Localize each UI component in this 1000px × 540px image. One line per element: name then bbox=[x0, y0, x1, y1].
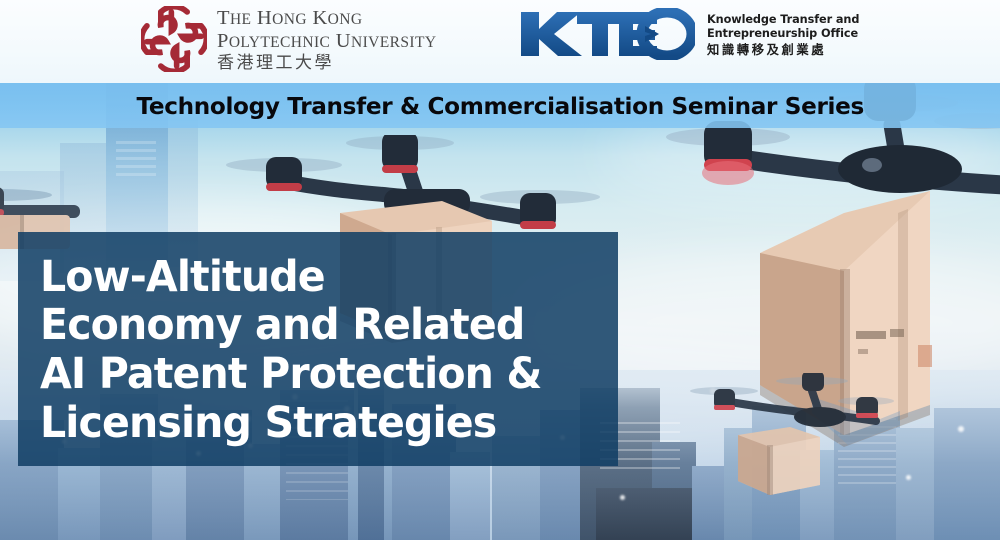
kteo-logo: Knowledge Transfer and Entrepreneurship … bbox=[519, 8, 859, 60]
poster-title-overlay: Low-Altitude Economy and Related AI Pate… bbox=[18, 232, 618, 466]
kteo-wordmark-icon bbox=[519, 8, 695, 60]
kteo-name-chinese: 知識轉移及創業處 bbox=[707, 43, 859, 58]
delivery-drone-small-center bbox=[680, 373, 900, 513]
seminar-poster: Low-Altitude Economy and Related AI Pate… bbox=[0, 0, 1000, 540]
polyu-logo: THE HONG KONG POLYTECHNIC UNIVERSITY 香港理… bbox=[141, 6, 436, 72]
kteo-name-line-1: Knowledge Transfer and bbox=[707, 13, 859, 26]
poster-header: THE HONG KONG POLYTECHNIC UNIVERSITY 香港理… bbox=[0, 0, 1000, 83]
logo-row: THE HONG KONG POLYTECHNIC UNIVERSITY 香港理… bbox=[0, 0, 1000, 83]
title-line-4: Licensing Strategies bbox=[40, 399, 575, 448]
seminar-series-banner: Technology Transfer & Commercialisation … bbox=[0, 83, 1000, 128]
polyu-name-line-2: POLYTECHNIC UNIVERSITY bbox=[217, 31, 436, 52]
building bbox=[596, 488, 692, 540]
kteo-wordmark-text: Knowledge Transfer and Entrepreneurship … bbox=[707, 10, 859, 57]
polyu-wordmark: THE HONG KONG POLYTECHNIC UNIVERSITY 香港理… bbox=[217, 6, 436, 72]
title-line-2: Economy and Related bbox=[40, 301, 575, 350]
polyu-name-line-1: THE HONG KONG bbox=[217, 8, 436, 29]
polyu-name-chinese: 香港理工大學 bbox=[217, 55, 436, 72]
title-line-3: AI Patent Protection & bbox=[40, 350, 575, 399]
kteo-name-line-2: Entrepreneurship Office bbox=[707, 27, 859, 40]
title-line-1: Low-Altitude bbox=[40, 253, 575, 302]
polyu-knot-logo-icon bbox=[141, 6, 207, 72]
banner-text: Technology Transfer & Commercialisation … bbox=[136, 92, 863, 120]
